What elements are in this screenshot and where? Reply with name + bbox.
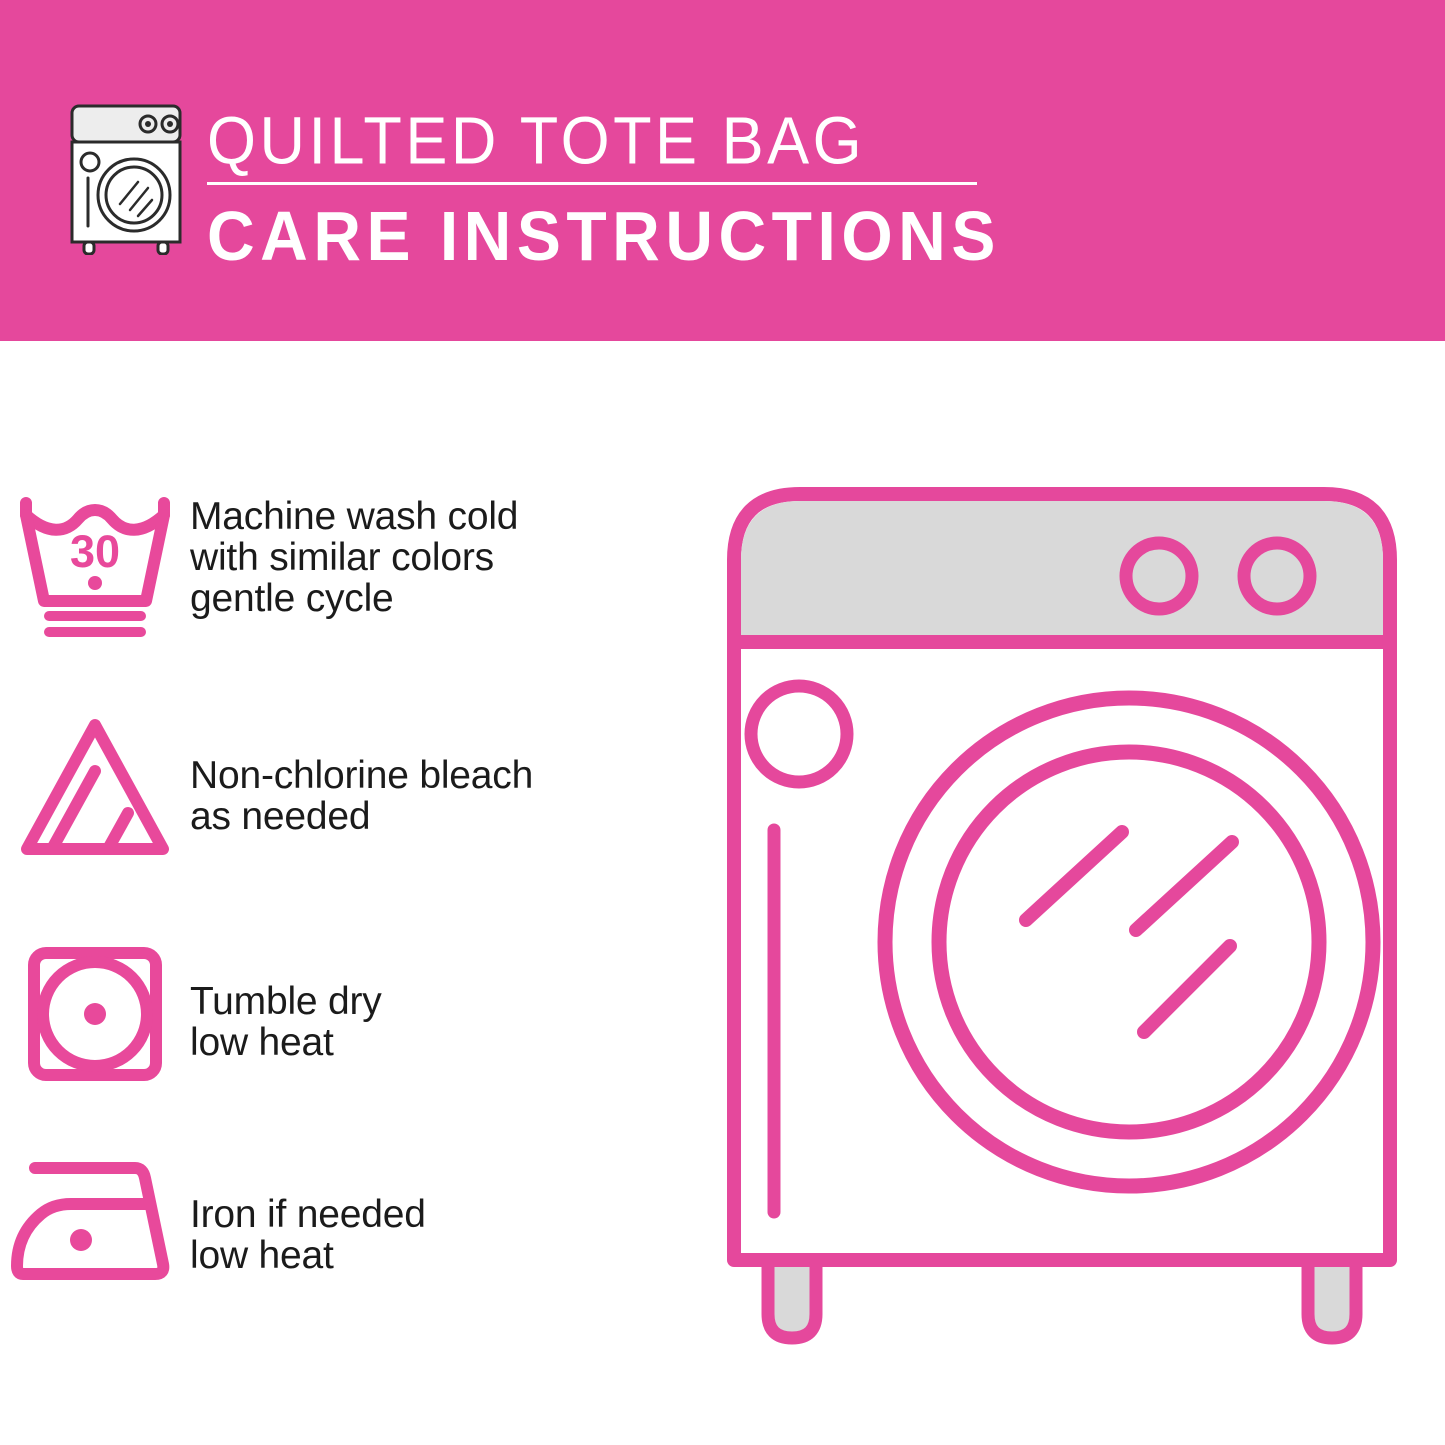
washing-machine-icon <box>62 100 190 255</box>
header-band: QUILTED TOTE BAG CARE INSTRUCTIONS <box>0 0 1445 341</box>
care-text-wash: Machine wash cold with similar colors ge… <box>190 489 518 619</box>
care-text-bleach: Non-chlorine bleach as needed <box>190 713 533 837</box>
care-row: 30 Machine wash cold with similar colors… <box>0 489 700 644</box>
care-text-line: with similar colors <box>190 537 518 578</box>
care-text-line: Iron if needed <box>190 1194 426 1235</box>
care-row: Non-chlorine bleach as needed <box>0 713 700 861</box>
heat-dot <box>70 1229 92 1251</box>
care-text-line: low heat <box>190 1235 426 1276</box>
tumble-dry-icon <box>0 941 190 1087</box>
care-text-line: Machine wash cold <box>190 496 518 537</box>
machine-leg-right <box>1308 1256 1356 1338</box>
care-text-dry: Tumble dry low heat <box>190 941 382 1063</box>
heat-dot <box>88 576 102 590</box>
care-row: Iron if needed low heat <box>0 1156 700 1288</box>
control-panel <box>741 501 1383 642</box>
bleach-triangle-icon <box>0 713 190 861</box>
care-text-line: Non-chlorine bleach <box>190 755 533 796</box>
header-divider <box>207 182 977 185</box>
header-text-block: QUILTED TOTE BAG CARE INSTRUCTIONS <box>207 103 987 271</box>
care-instructions-list: 30 Machine wash cold with similar colors… <box>0 341 722 1445</box>
care-text-line: as needed <box>190 796 533 837</box>
wash-temperature-label: 30 <box>70 526 120 577</box>
gentle-bar-2 <box>44 627 146 637</box>
washing-machine-illustration <box>712 470 1412 1370</box>
wash-tub-icon: 30 <box>0 489 190 644</box>
page-title: QUILTED TOTE BAG <box>207 103 987 179</box>
care-instructions-page: QUILTED TOTE BAG CARE INSTRUCTIONS 30 <box>0 0 1445 1445</box>
heat-dot <box>84 1003 106 1025</box>
care-text-line: low heat <box>190 1022 382 1063</box>
iron-icon <box>0 1156 190 1288</box>
machine-leg-left <box>768 1256 816 1338</box>
care-text-line: gentle cycle <box>190 578 518 619</box>
page-subtitle: CARE INSTRUCTIONS <box>207 197 987 275</box>
gentle-bar-1 <box>44 611 146 621</box>
care-text-iron: Iron if needed low heat <box>190 1156 426 1276</box>
care-text-line: Tumble dry <box>190 981 382 1022</box>
care-row: Tumble dry low heat <box>0 941 700 1087</box>
